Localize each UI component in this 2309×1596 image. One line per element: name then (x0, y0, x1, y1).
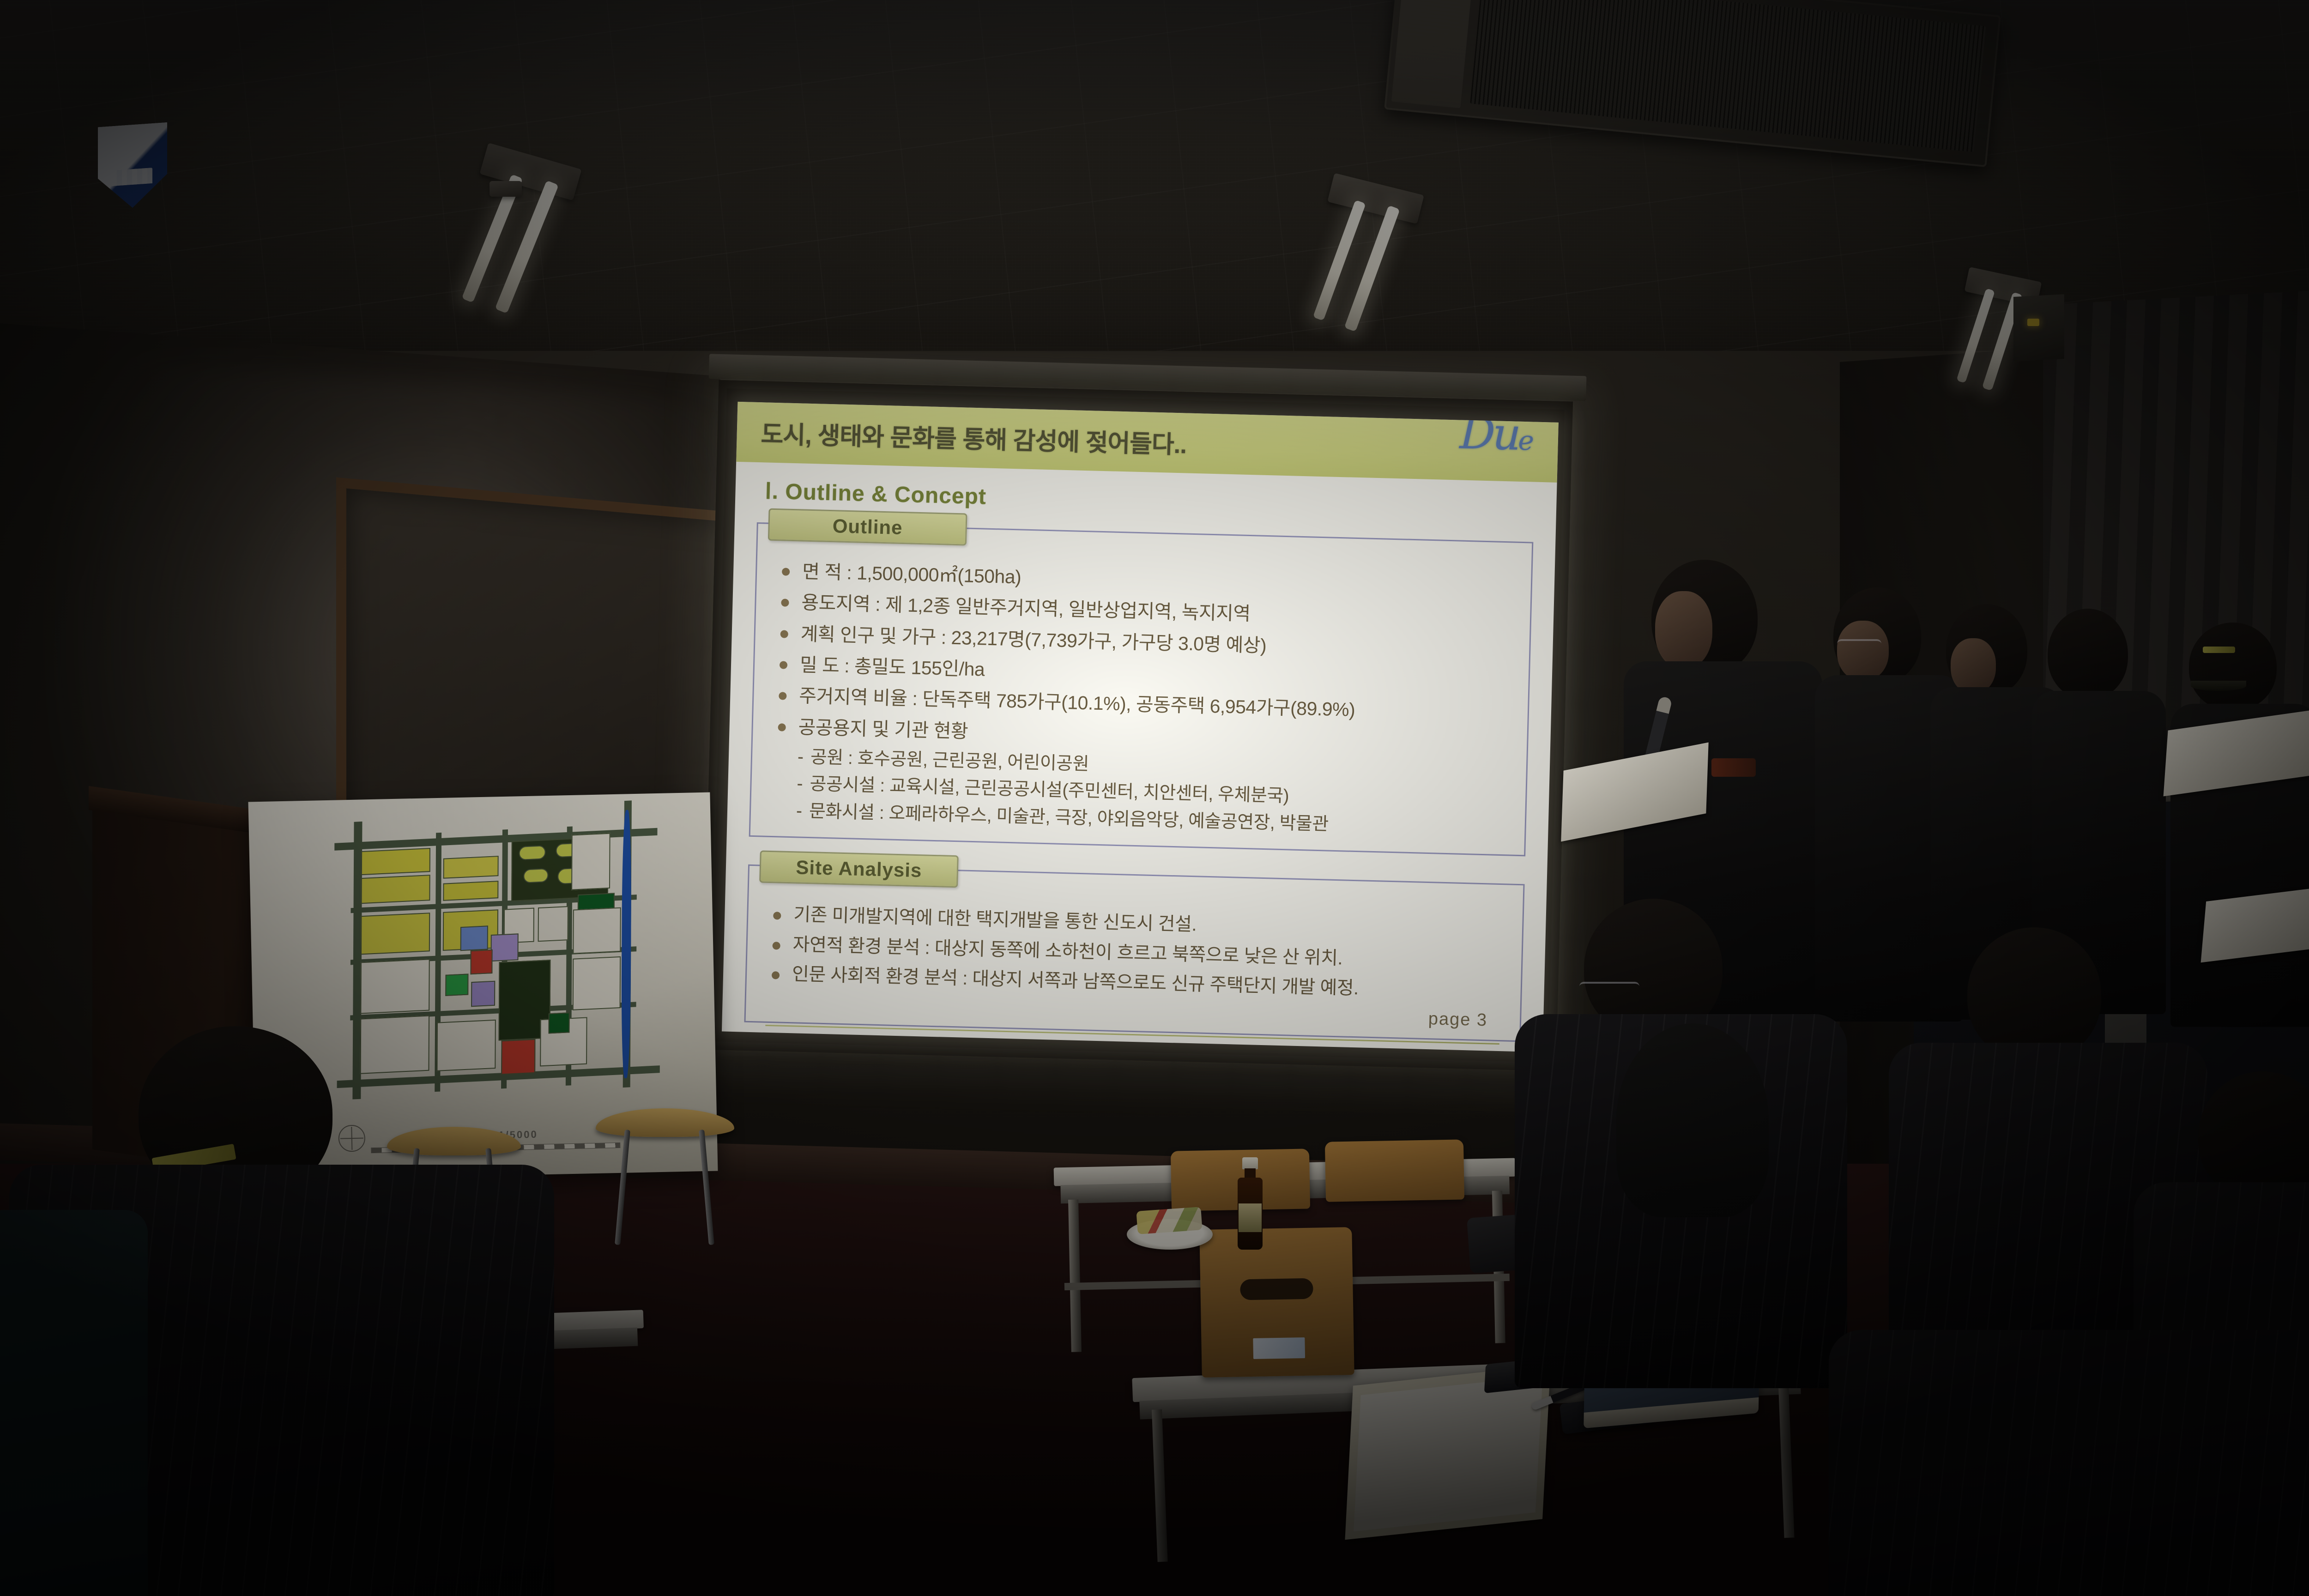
site-bullet-list: 기존 미개발지역에 대한 택지개발을 통한 신도시 건설. 자연적 환경 분석 … (768, 901, 1508, 1006)
chair-asset-sticker (1253, 1337, 1306, 1359)
chair-handle-slot (1240, 1278, 1313, 1300)
du-logo-sub: e (1518, 425, 1532, 457)
bottle-cap (1242, 1157, 1258, 1169)
plan-block-residential (361, 875, 430, 904)
desk-leg (1152, 1409, 1168, 1562)
classroom-presentation-photo: 도시, 생태와 문화를 통해 감성에 젖어들다.. Due Ⅰ. Outline… (0, 0, 2309, 1596)
plan-block-commercial (470, 949, 492, 974)
light-mount-plate (490, 181, 522, 197)
wooden-stool (596, 1108, 734, 1265)
ac-louver (1391, 0, 1473, 108)
stool-leg (615, 1130, 630, 1245)
desk-leg (1068, 1199, 1082, 1352)
outline-tab: Outline (768, 508, 967, 546)
seated-viewer-center (1515, 899, 1856, 1388)
student-head (2189, 623, 2277, 710)
classroom-chair (1199, 1227, 1354, 1378)
outline-sub-list: 공원 : 호수공원, 근린공원, 어린이공원 공공시설 : 교육시설, 근린공공… (792, 744, 1512, 843)
chair-back (1325, 1139, 1464, 1202)
plan-block-mixed (571, 833, 610, 890)
slide-body: Ⅰ. Outline & Concept Outline 면 적 : 1,500… (722, 462, 1557, 1052)
site-analysis-panel: Site Analysis 기존 미개발지역에 대한 택지개발을 통한 신도시 … (744, 864, 1524, 1042)
presentation-slide: 도시, 생태와 문화를 통해 감성에 젖어들다.. Due Ⅰ. Outline… (722, 402, 1559, 1052)
bottle-label (1239, 1203, 1262, 1232)
outline-tab-label: Outline (832, 515, 903, 539)
plan-block-residential-low (573, 956, 621, 1010)
beverage-bottle (1238, 1157, 1263, 1250)
plan-block-greenway (523, 868, 548, 883)
plan-block-institution (460, 925, 488, 951)
glasses-icon (1837, 639, 1881, 648)
viewer-torso (0, 1210, 148, 1596)
seated-viewer-front-left-second (0, 1210, 148, 1596)
snacks (1136, 1207, 1202, 1234)
clipboard-paper (1354, 1376, 1542, 1532)
outline-panel: Outline 면 적 : 1,500,000㎡(150ha) 용도지역 : 제… (749, 522, 1534, 857)
viewer-hood (1616, 1023, 1769, 1217)
plan-block-residential (443, 881, 498, 901)
viewer-head (2198, 1071, 2309, 1201)
plan-block-residential (443, 856, 499, 879)
wall-indicator-light (2027, 319, 2039, 326)
stool-seat (596, 1108, 734, 1137)
plan-block-culture (471, 981, 495, 1007)
snack-plate (1127, 1219, 1213, 1250)
wall-speaker (2013, 294, 2064, 362)
projection-screen: 도시, 생태와 문화를 통해 감성에 젖어들다.. Due Ⅰ. Outline… (702, 380, 1573, 1071)
presenter-jacket-badge (1711, 758, 1756, 777)
seated-viewer-bottom-right (1829, 1330, 2309, 1596)
plan-block-residential (361, 848, 430, 875)
cap-brim-icon (2191, 681, 2246, 691)
plan-block-civic (538, 906, 568, 942)
plan-block-green (445, 973, 468, 996)
presenter-face (1655, 591, 1712, 669)
student-head (2048, 609, 2128, 699)
viewer-jacket (1829, 1330, 2309, 1596)
plan-block-residential (361, 913, 430, 955)
student-face (1837, 621, 1889, 681)
clipboard (1345, 1365, 1550, 1540)
site-analysis-tab-label: Site Analysis (796, 857, 922, 882)
student-face (1951, 638, 1996, 694)
stool-leg (699, 1130, 714, 1245)
plan-block-residential-low (360, 959, 429, 1014)
plan-block-greenway (519, 845, 546, 860)
glasses-icon (1579, 982, 1639, 991)
plan-block-culture (491, 933, 519, 961)
classroom-chair (1325, 1139, 1464, 1202)
outline-bullet-list: 면 적 : 1,500,000㎡(150ha) 용도지역 : 제 1,2종 일반… (774, 556, 1517, 759)
ceiling-light-fixture (490, 181, 508, 199)
slide-banner-title: 도시, 생태와 문화를 통해 감성에 젖어들다.. (737, 414, 1187, 461)
site-analysis-tab: Site Analysis (759, 851, 959, 888)
cap-logo-icon (2203, 647, 2235, 653)
desk-leg (1778, 1385, 1795, 1538)
viewer-head (1967, 927, 2101, 1061)
plan-block-residential-low (573, 907, 621, 954)
